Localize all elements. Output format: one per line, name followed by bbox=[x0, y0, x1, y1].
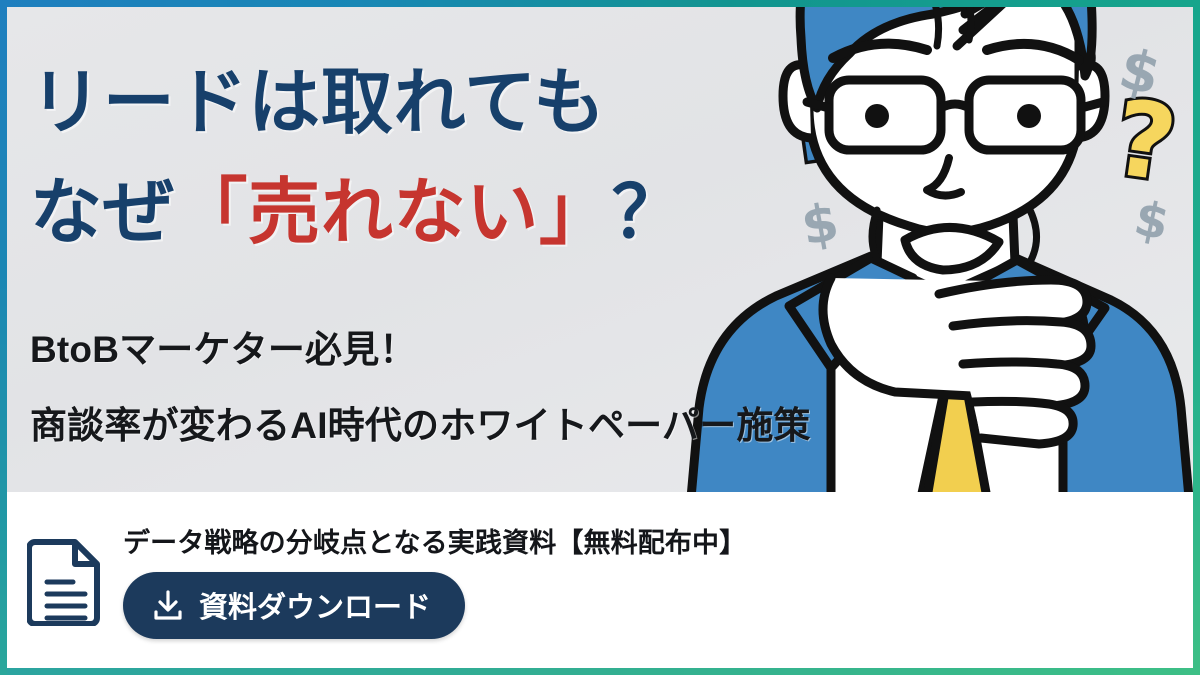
headline-line-2-suffix: ？ bbox=[612, 173, 685, 253]
frame-border-bottom bbox=[0, 668, 1200, 675]
cta-lead-text: データ戦略の分岐点となる実践資料【無料配布中】 bbox=[123, 521, 746, 560]
download-arrow-icon bbox=[151, 588, 185, 622]
headline-line-2-highlight: 「売れない」 bbox=[175, 173, 611, 253]
headline-line-2-prefix: なぜ bbox=[30, 173, 175, 253]
document-icon bbox=[27, 534, 105, 626]
hero-stage: ? ? ? ? ? $ $ $ bbox=[7, 7, 1193, 492]
headline-line-2: なぜ「売れない」？ bbox=[30, 177, 685, 249]
frame-border-top bbox=[0, 0, 1200, 7]
subcopy: BtoBマーケター必見！ 商談率が変わるAI時代のホワイトペーパー施策 bbox=[30, 319, 811, 449]
cta-text-group: データ戦略の分岐点となる実践資料【無料配布中】 資料ダウンロード bbox=[123, 521, 746, 639]
download-button-label: 資料ダウンロード bbox=[199, 584, 431, 626]
download-button[interactable]: 資料ダウンロード bbox=[123, 572, 465, 639]
headline: リードは取れても なぜ「売れない」？ bbox=[30, 67, 685, 249]
frame-border-left bbox=[0, 0, 7, 675]
subcopy-line-1: BtoBマーケター必見！ bbox=[30, 319, 811, 373]
frame-border-right bbox=[1193, 0, 1200, 675]
subcopy-line-2: 商談率が変わるAI時代のホワイトペーパー施策 bbox=[30, 395, 811, 449]
headline-line-1: リードは取れても bbox=[30, 67, 685, 139]
cta-bar: データ戦略の分岐点となる実践資料【無料配布中】 資料ダウンロード bbox=[7, 492, 1193, 668]
whitepaper-promo-banner: ? ? ? ? ? $ $ $ bbox=[0, 0, 1200, 675]
